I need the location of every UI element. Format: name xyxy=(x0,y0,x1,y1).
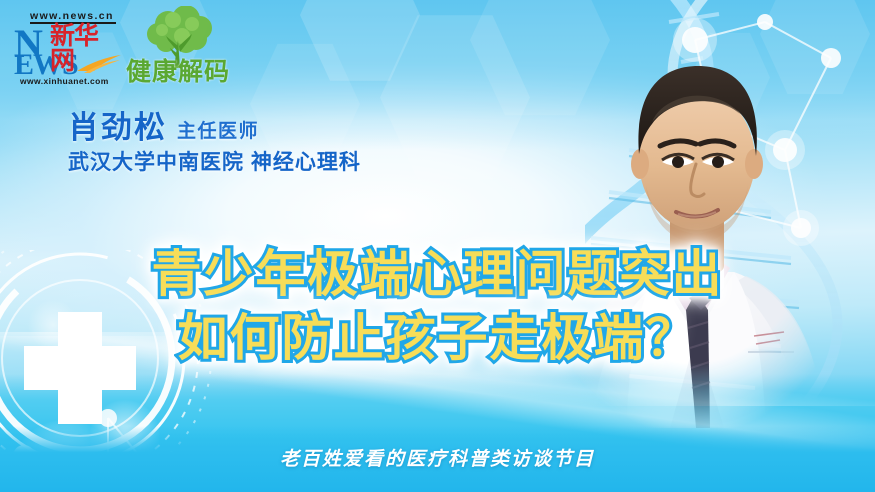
headline-line-2: 如何防止孩子走极端？ xyxy=(0,307,875,371)
presenter-title: 主任医师 xyxy=(177,122,259,143)
xinhua-url-bottom: www.xinhuanet.com xyxy=(20,76,109,86)
program-logo[interactable]: 健康解码 xyxy=(116,8,240,96)
headline-line-1: 青少年极端心理问题突出 xyxy=(0,243,875,307)
broadcast-title-card: www.news.cn N EWS 新华网 www.xinhuanet.com xyxy=(0,0,875,492)
presenter-affiliation: 武汉大学中南医院 神经心理科 xyxy=(68,152,361,173)
presenter-info: 肖劲松 主任医师 武汉大学中南医院 神经心理科 xyxy=(68,112,361,173)
xinhua-logo[interactable]: www.news.cn N EWS 新华网 www.xinhuanet.com xyxy=(14,10,114,86)
presenter-name: 肖劲松 xyxy=(68,112,167,143)
program-tagline: 老百姓爱看的医疗科普类访谈节目 xyxy=(0,444,875,471)
program-name: 健康解码 xyxy=(116,60,240,85)
headline: 青少年极端心理问题突出 如何防止孩子走极端？ xyxy=(0,243,875,370)
